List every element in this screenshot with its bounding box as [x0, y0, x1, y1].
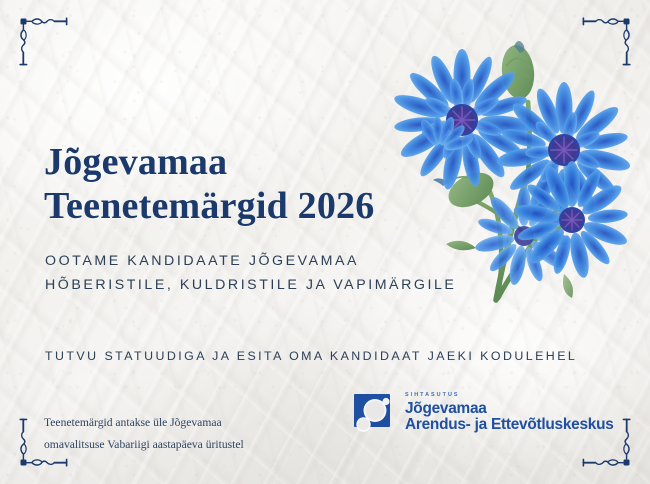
logo-name-line1: Jõgevamaa [405, 400, 487, 417]
subheadline: OOTAME KANDIDAATE JÕGEVAMAA HÕBERISTILE,… [45, 250, 456, 298]
footnote-text: Teenetemärgid antakse üle Jõgevamaa omav… [44, 412, 244, 457]
corner-ornament-top-left-icon [14, 12, 84, 82]
logo-kicker: SIHTASUTUS [405, 393, 614, 398]
page-title: Jõgevamaa Teenetemärgid 2026 [44, 141, 374, 228]
logo-name-line2: Arendus- ja Ettevõtluskeskus [405, 417, 614, 433]
jaek-logo-text: SIHTASUTUS Jõgevamaa Arendus- ja Ettevõt… [405, 392, 614, 433]
poster-canvas: Jõgevamaa Teenetemärgid 2026 OOTAME KAND… [0, 0, 650, 484]
call-to-action-text: TUTVU STATUUDIGA JA ESITA OMA KANDIDAAT … [45, 349, 577, 363]
jaek-logo-mark-icon [352, 392, 398, 438]
jaek-logo[interactable]: SIHTASUTUS Jõgevamaa Arendus- ja Ettevõt… [352, 392, 614, 438]
corner-ornament-top-right-icon [566, 12, 636, 82]
